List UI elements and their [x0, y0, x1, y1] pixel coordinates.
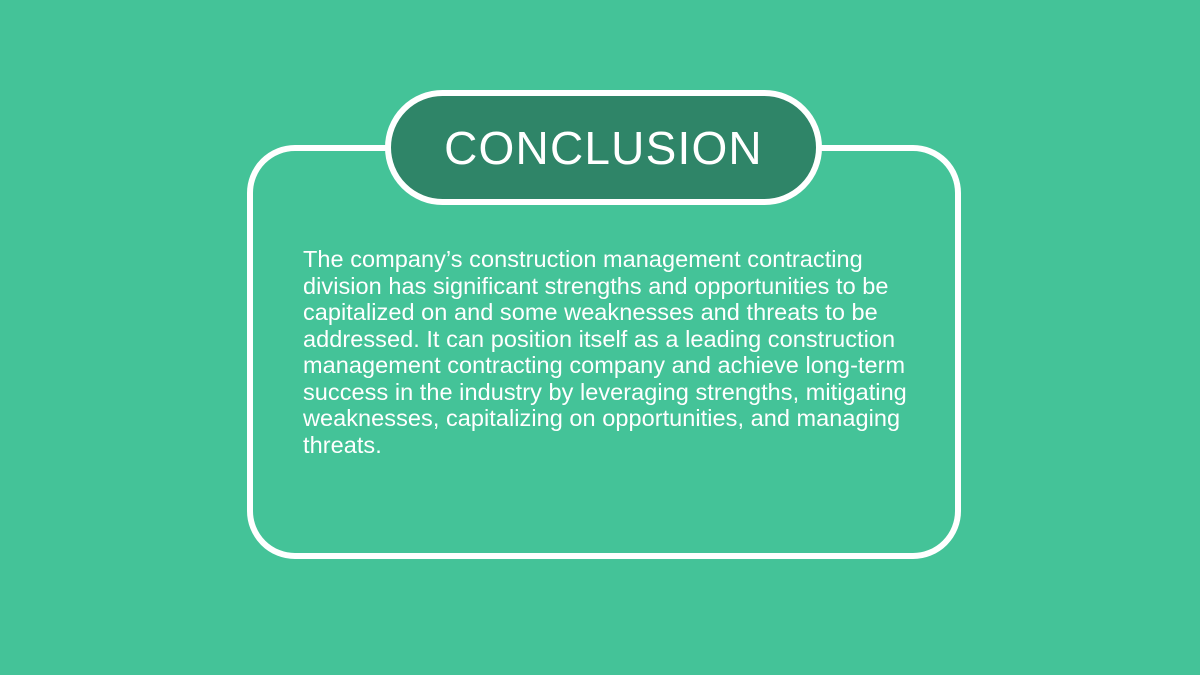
conclusion-paragraph: The company’s construction management co…: [303, 246, 913, 458]
title-pill: CONCLUSION: [385, 90, 822, 205]
slide-canvas: CONCLUSION The company’s construction ma…: [0, 0, 1200, 675]
body-text-block: The company’s construction management co…: [303, 246, 913, 458]
page-title: CONCLUSION: [444, 125, 763, 171]
